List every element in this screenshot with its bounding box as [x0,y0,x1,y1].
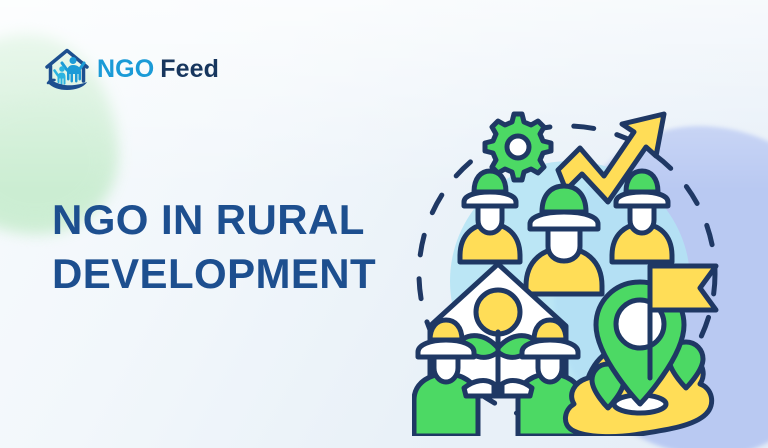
page-title: NGO IN RURAL DEVELOPMENT [52,193,432,301]
poster-canvas: NGOFeed NGO IN RURAL DEVELOPMENT .o { st… [0,0,768,448]
farmers-with-sprout-icon [414,320,582,436]
brand-name: NGOFeed [97,57,219,82]
page-title-line-1: NGO IN RURAL [52,196,365,243]
brand-name-feed: Feed [160,55,219,83]
page-title-line-2: DEVELOPMENT [52,247,432,301]
rural-development-illustration: .o { stroke:#1f3864; stroke-width:5; str… [412,96,722,436]
brand-logo[interactable]: NGOFeed [42,44,219,94]
house-with-people-in-hand-icon [42,44,92,94]
brand-name-ngo: NGO [97,55,154,83]
